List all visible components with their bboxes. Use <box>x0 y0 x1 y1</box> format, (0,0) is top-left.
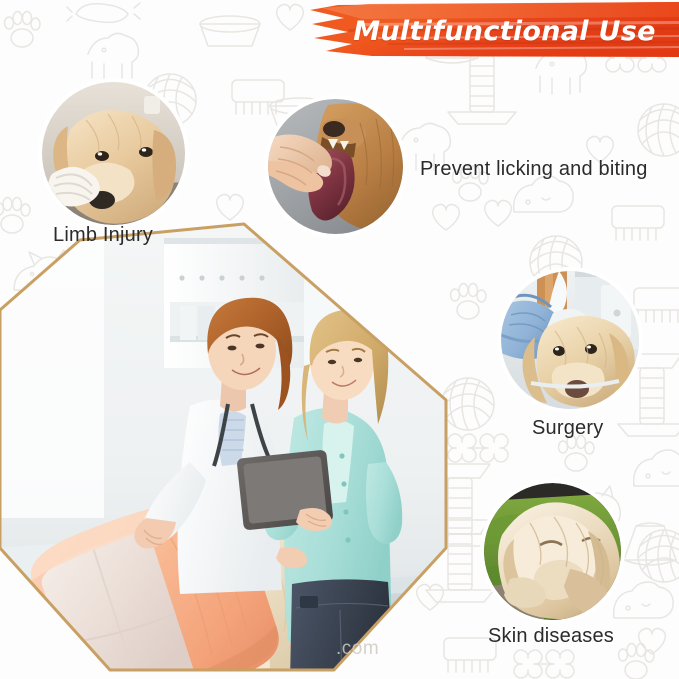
dog-in-surgery-photo <box>501 271 639 409</box>
feature-label-limb-injury: Limb Injury <box>53 224 153 247</box>
main-product-photo-frame <box>0 218 456 679</box>
title-banner: Multifunctional Use <box>308 2 679 60</box>
infographic-page: Multifunctional Use <box>0 0 679 679</box>
feature-circle-surgery <box>501 271 639 409</box>
dog-with-bandaged-paw-photo <box>42 82 185 225</box>
dog-scratching-itch-photo <box>484 483 621 620</box>
feature-label-prevent-licking: Prevent licking and biting <box>420 158 648 181</box>
feature-circle-skin-diseases <box>484 483 621 620</box>
feature-circle-limb-injury <box>42 82 185 225</box>
watermark-text: .com <box>336 638 379 660</box>
page-title: Multifunctional Use <box>308 2 679 60</box>
feature-label-skin-diseases: Skin diseases <box>488 625 614 648</box>
hexagon-gold-frame <box>0 218 456 679</box>
feature-label-surgery: Surgery <box>532 417 603 440</box>
feature-circle-prevent-licking <box>268 99 403 234</box>
dog-licking-hand-photo <box>268 99 403 234</box>
